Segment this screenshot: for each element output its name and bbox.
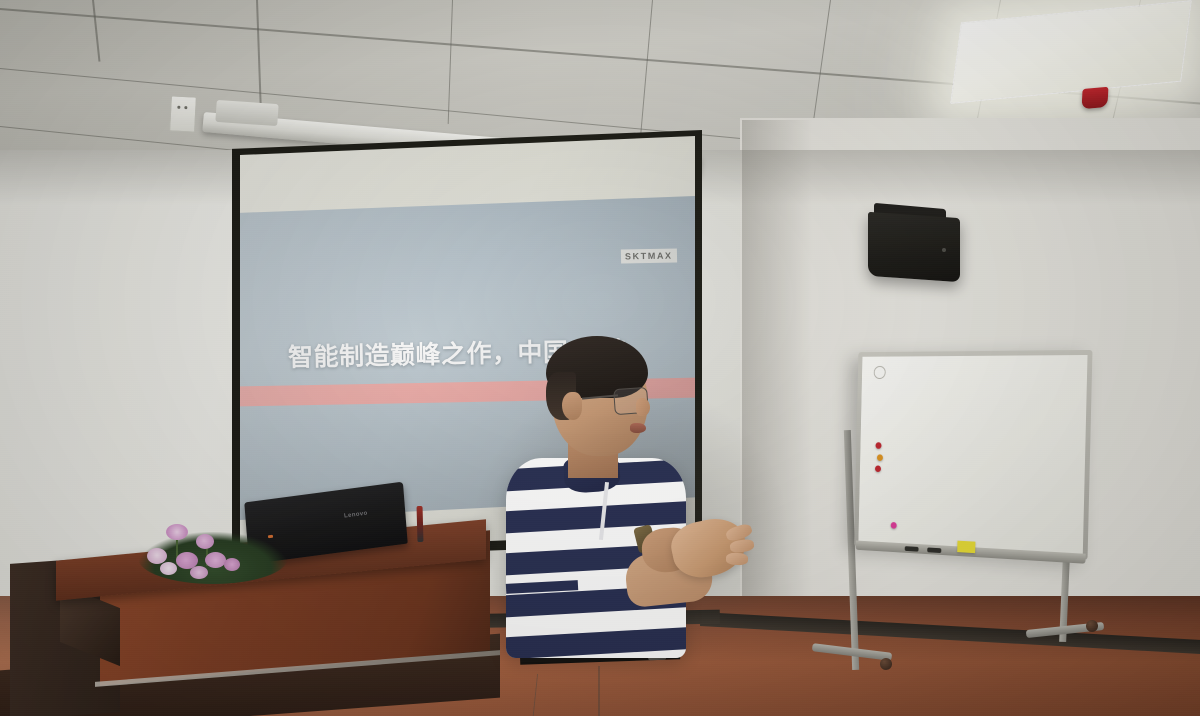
presenter-mouth	[630, 423, 646, 433]
wall-outlet	[169, 95, 197, 132]
presenter-nose	[636, 398, 650, 416]
flower-blossom	[166, 524, 188, 540]
presenter-finger	[726, 553, 748, 566]
wall-speaker-icon	[868, 212, 960, 282]
trouser-pocket	[531, 674, 584, 716]
flower-blossom	[224, 558, 240, 571]
shirt-stripe	[506, 626, 686, 658]
whiteboard[interactable]	[854, 350, 1092, 560]
marker-pen[interactable]	[905, 546, 919, 552]
flower-blossom	[196, 534, 214, 549]
marker-pen[interactable]	[927, 547, 941, 553]
presenter-ear	[562, 392, 582, 420]
trouser-crease	[598, 666, 600, 716]
whiteboard-clip-icon	[874, 366, 886, 379]
speaker-driver-dot	[942, 248, 946, 252]
whiteboard-magnet[interactable]	[877, 454, 883, 461]
presenter-finger	[729, 538, 754, 553]
presenter	[490, 330, 760, 716]
presentation-room-photo: CACTUS SKTMAX 智能制造巅峰之作，中国 科特	[0, 0, 1200, 716]
flower-blossom	[205, 552, 226, 568]
slide-brand-logo: SKTMAX	[621, 248, 677, 263]
microphone-icon[interactable]	[417, 506, 424, 542]
whiteboard-magnet[interactable]	[875, 465, 881, 472]
screen-mount-bracket	[215, 100, 278, 126]
whiteboard-magnet[interactable]	[891, 522, 897, 529]
whiteboard-magnet[interactable]	[875, 442, 881, 449]
laptop-led-icon	[268, 535, 273, 539]
sticky-note[interactable]	[957, 541, 975, 554]
flower-blossom	[160, 562, 177, 575]
whiteboard-caster	[880, 658, 892, 670]
flower-blossom	[190, 566, 208, 579]
whiteboard-caster	[1086, 620, 1098, 632]
whiteboard-surface[interactable]	[858, 355, 1087, 555]
